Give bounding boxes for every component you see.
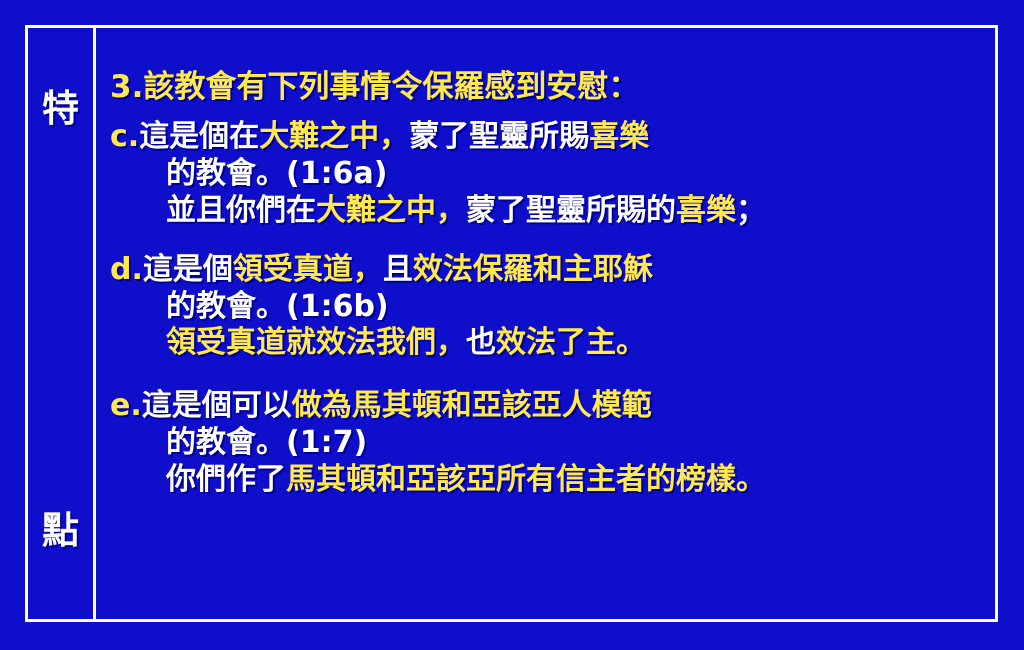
vertical-label-bottom: 點: [42, 512, 79, 549]
text-run: 蒙了聖靈所賜: [409, 119, 589, 154]
point-line: 並且你們在大難之中，蒙了聖靈所賜的喜樂；: [166, 193, 995, 230]
text-run: 且: [383, 252, 413, 287]
point-block-c: c.這是個在大難之中，蒙了聖靈所賜喜樂的教會。(1:6a)並且你們在大難之中，蒙…: [110, 119, 995, 230]
point-marker: e.: [110, 388, 142, 423]
point-marker: d.: [110, 252, 143, 287]
text-run: 馬其頓和亞該亞所有信主者的榜樣。: [286, 462, 766, 497]
content-column: 3.該教會有下列事情令保羅感到安慰： c.這是個在大難之中，蒙了聖靈所賜喜樂的教…: [96, 28, 995, 619]
vertical-label-column: 特 點: [28, 28, 96, 619]
text-run: 的教會。(1:6a): [166, 156, 387, 191]
text-run: 蒙了聖靈所賜的: [466, 193, 676, 228]
text-run: 做為馬其頓和亞該亞人模範: [292, 388, 652, 423]
point-line: 你們作了馬其頓和亞該亞所有信主者的榜樣。: [166, 462, 995, 499]
text-run: 這是個在: [139, 119, 259, 154]
text-run: 大難之中，: [316, 193, 466, 228]
point-line: 的教會。(1:7): [166, 425, 995, 462]
text-run: 大難之中，: [259, 119, 409, 154]
text-run: 喜樂: [589, 119, 649, 154]
text-run: 效法保羅和主耶穌: [413, 252, 653, 287]
headline: 3.該教會有下列事情令保羅感到安慰：: [110, 72, 995, 103]
point-line: e.這是個可以做為馬其頓和亞該亞人模範: [150, 388, 995, 425]
slide-frame: 特 點 3.該教會有下列事情令保羅感到安慰： c.這是個在大難之中，蒙了聖靈所賜…: [25, 25, 998, 622]
text-run: ；: [736, 193, 766, 228]
point-line: d.這是個領受真道，且效法保羅和主耶穌: [150, 252, 995, 289]
text-run: 並且你們在: [166, 193, 316, 228]
text-run: 領受真道就效法我們，: [166, 325, 466, 360]
point-block-d: d.這是個領受真道，且效法保羅和主耶穌的教會。(1:6b)領受真道就效法我們，也…: [110, 252, 995, 363]
text-run: 的教會。(1:6b): [166, 289, 389, 324]
text-run: 喜樂: [676, 193, 736, 228]
point-block-e: e.這是個可以做為馬其頓和亞該亞人模範的教會。(1:7)你們作了馬其頓和亞該亞所…: [110, 388, 995, 499]
vertical-label-top: 特: [42, 90, 79, 127]
point-line: c.這是個在大難之中，蒙了聖靈所賜喜樂: [150, 119, 995, 156]
text-run: 也: [466, 325, 496, 360]
text-run: 這是個可以: [142, 388, 292, 423]
slide-canvas: 特 點 3.該教會有下列事情令保羅感到安慰： c.這是個在大難之中，蒙了聖靈所賜…: [0, 0, 1024, 650]
point-line: 的教會。(1:6a): [166, 156, 995, 193]
text-run: 效法了主。: [496, 325, 646, 360]
text-run: 的教會。(1:7): [166, 425, 367, 460]
point-line: 的教會。(1:6b): [166, 289, 995, 326]
text-run: 你們作了: [166, 462, 286, 497]
point-marker: c.: [110, 119, 139, 154]
point-line: 領受真道就效法我們，也效法了主。: [166, 325, 995, 362]
text-run: 領受真道，: [233, 252, 383, 287]
text-run: 這是個: [143, 252, 233, 287]
